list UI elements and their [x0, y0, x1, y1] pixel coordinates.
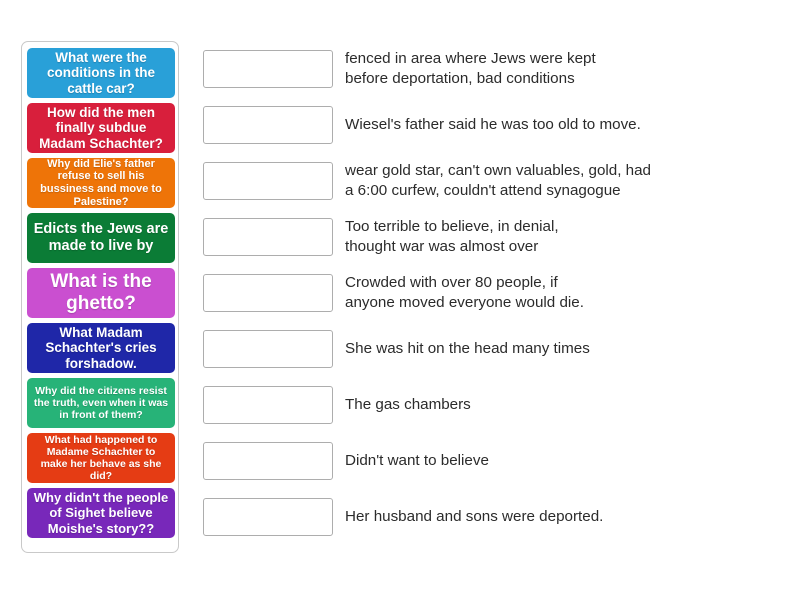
answer-text: Wiesel's father said he was too old to m… [345, 115, 641, 135]
answer-row: Her husband and sons were deported. [203, 498, 778, 536]
answer-text: Too terrible to believe, in denial, thou… [345, 217, 559, 258]
answer-text: She was hit on the head many times [345, 339, 590, 359]
answer-text: Didn't want to believe [345, 451, 489, 471]
answer-row: The gas chambers [203, 386, 778, 424]
answer-row: Didn't want to believe [203, 442, 778, 480]
dropzone[interactable] [203, 442, 333, 480]
question-tile[interactable]: Why didn't the people of Sighet believe … [27, 488, 175, 538]
answer-row: Too terrible to believe, in denial, thou… [203, 218, 778, 256]
question-tile[interactable]: Why did Elie's father refuse to sell his… [27, 158, 175, 208]
answer-row: Wiesel's father said he was too old to m… [203, 106, 778, 144]
answer-text: The gas chambers [345, 395, 471, 415]
dropzone[interactable] [203, 106, 333, 144]
answer-row: fenced in area where Jews were kept befo… [203, 50, 778, 88]
dropzone[interactable] [203, 162, 333, 200]
dropzone[interactable] [203, 50, 333, 88]
question-tile[interactable]: What is the ghetto? [27, 268, 175, 318]
question-tile[interactable]: How did the men finally subdue Madam Sch… [27, 103, 175, 153]
answer-text: Her husband and sons were deported. [345, 507, 603, 527]
answer-text: wear gold star, can't own valuables, gol… [345, 161, 651, 202]
answer-row: Crowded with over 80 people, if anyone m… [203, 274, 778, 312]
question-tiles-panel: What were the conditions in the cattle c… [21, 41, 179, 553]
answer-text: Crowded with over 80 people, if anyone m… [345, 273, 584, 314]
answer-text: fenced in area where Jews were kept befo… [345, 49, 596, 90]
answers-list: fenced in area where Jews were kept befo… [203, 50, 778, 554]
question-tile[interactable]: What Madam Schachter's cries forshadow. [27, 323, 175, 373]
answer-row: She was hit on the head many times [203, 330, 778, 368]
dropzone[interactable] [203, 274, 333, 312]
question-tile[interactable]: Why did the citizens resist the truth, e… [27, 378, 175, 428]
dropzone[interactable] [203, 498, 333, 536]
question-tile[interactable]: What were the conditions in the cattle c… [27, 48, 175, 98]
dropzone[interactable] [203, 218, 333, 256]
dropzone[interactable] [203, 330, 333, 368]
match-up-activity: What were the conditions in the cattle c… [0, 0, 800, 600]
question-tile[interactable]: What had happened to Madame Schachter to… [27, 433, 175, 483]
answer-row: wear gold star, can't own valuables, gol… [203, 162, 778, 200]
dropzone[interactable] [203, 386, 333, 424]
question-tile[interactable]: Edicts the Jews are made to live by [27, 213, 175, 263]
